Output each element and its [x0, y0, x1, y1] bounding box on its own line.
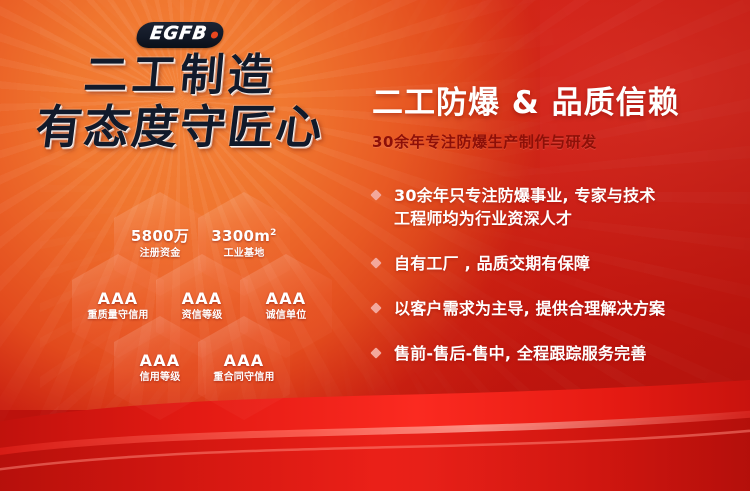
honeycomb-cell-value: AAA	[266, 290, 307, 308]
bullet-text-line-2: 工程师均为行业资深人才	[394, 207, 740, 230]
egfb-wordmark: EGFB	[149, 25, 209, 44]
diamond-icon	[370, 257, 381, 268]
honeycomb-cell-label: 信用等级	[140, 372, 181, 384]
bullet-item: 售前-售后-售中, 全程跟踪服务完善	[372, 342, 740, 365]
brand-slogan-line-1: 二工制造	[0, 54, 362, 98]
bullet-text-line-1: 以客户需求为主导, 提供合理解决方案	[394, 299, 665, 318]
bullet-item: 30余年只专注防爆事业, 专家与技术 工程师均为行业资深人才	[372, 184, 740, 230]
honeycomb-cell-value: AAA	[182, 290, 223, 308]
honeycomb-cell-label: 诚信单位	[266, 310, 307, 322]
bullet-text-line-1: 售前-售后-售中, 全程跟踪服务完善	[394, 344, 647, 363]
honeycomb-cell-value: AAA	[140, 352, 181, 370]
bullet-text-line-1: 30余年只专注防爆事业, 专家与技术	[394, 186, 656, 205]
honeycomb-cell-value: 5800万	[131, 228, 189, 245]
honeycomb-cell-value: AAA	[98, 290, 139, 308]
honeycomb-cell-label: 注册资金	[140, 248, 181, 260]
diamond-icon	[370, 348, 381, 359]
diamond-icon	[370, 303, 381, 314]
bullet-item: 以客户需求为主导, 提供合理解决方案	[372, 297, 740, 320]
brand-block: EGFB 二工制造 有态度守匠心	[0, 22, 360, 150]
egfb-logo-icon: EGFB	[134, 22, 226, 48]
credentials-honeycomb: 5800万 注册资金 3300m2 工业基地 AAA 重质量守信用 AAA 资信…	[62, 192, 342, 420]
diamond-icon	[370, 189, 381, 200]
honeycomb-cell-label: 工业基地	[224, 248, 265, 260]
bullet-text-line-1: 自有工厂 , 品质交期有保障	[394, 254, 590, 273]
feature-bullet-list: 30余年只专注防爆事业, 专家与技术 工程师均为行业资深人才 自有工厂 , 品质…	[372, 184, 740, 366]
honeycomb-cell-label: 重合同守信用	[213, 372, 274, 384]
honeycomb-cell-label: 资信等级	[182, 310, 223, 322]
honeycomb-cell-label: 重质量守信用	[87, 310, 148, 322]
subheadline: 30余年专注防爆生产制作与研发	[372, 131, 740, 152]
honeycomb-cell-value: 3300m2	[211, 228, 276, 245]
headline: 二工防爆 & 品质信赖	[372, 86, 740, 122]
promo-banner: EGFB 二工制造 有态度守匠心 5800万 注册资金 3300m2 工业基地 …	[0, 0, 750, 491]
bullet-item: 自有工厂 , 品质交期有保障	[372, 252, 740, 275]
brand-slogan-line-2: 有态度守匠心	[0, 104, 363, 150]
honeycomb-cell-value: AAA	[224, 352, 265, 370]
content-column: 二工防爆 & 品质信赖 30余年专注防爆生产制作与研发 30余年只专注防爆事业,…	[372, 86, 740, 388]
